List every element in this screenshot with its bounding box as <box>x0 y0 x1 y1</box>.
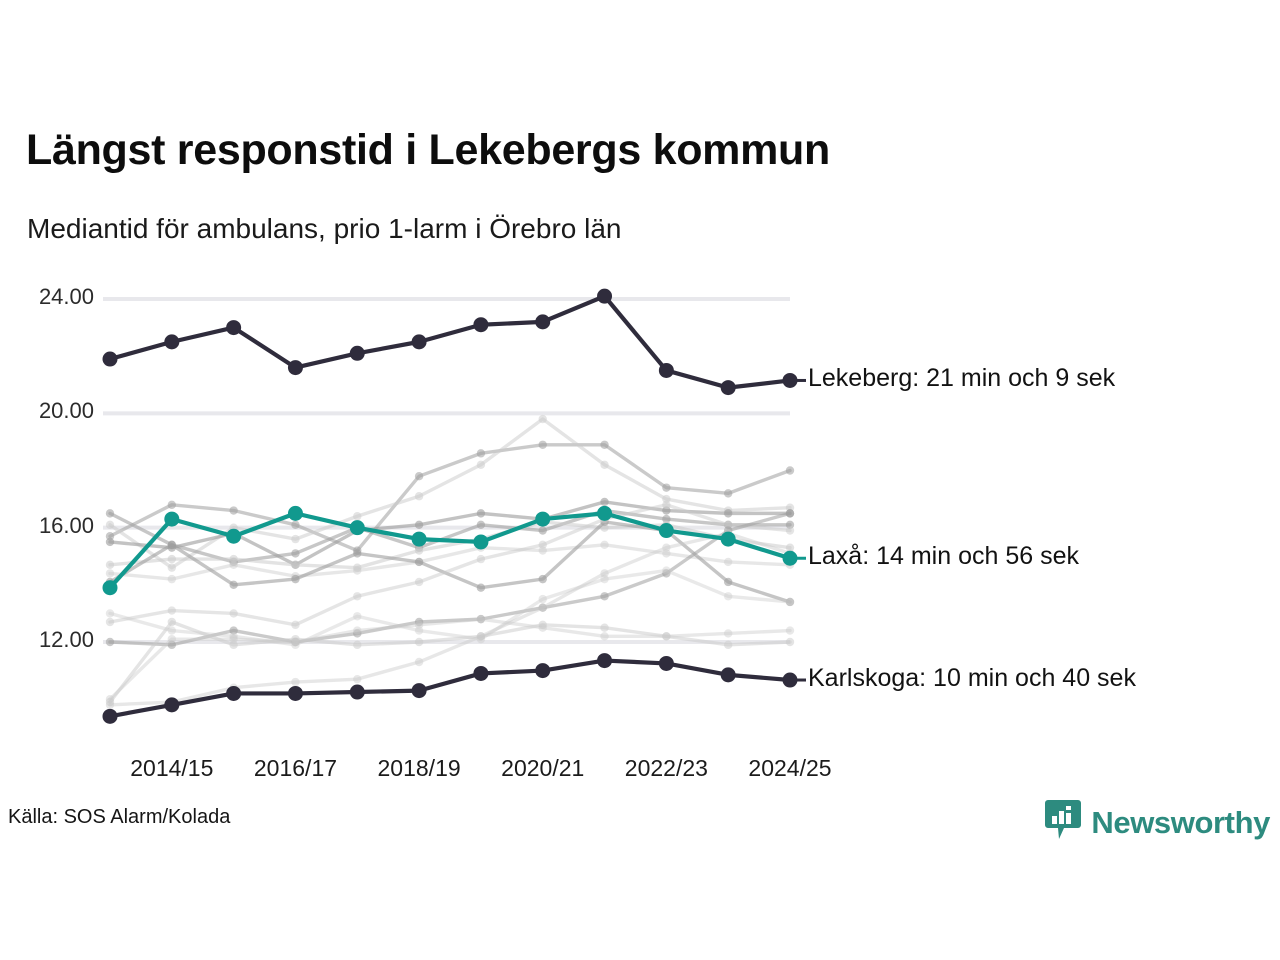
series-point-bg-1 <box>786 466 794 474</box>
series-line-lekeberg <box>110 296 790 387</box>
series-point-bg-10 <box>477 615 485 623</box>
series-point-bg-7 <box>600 518 608 526</box>
series-point-bg-3 <box>539 515 547 523</box>
series-point-bg-9 <box>229 626 237 634</box>
source-note: Källa: SOS Alarm/Kolada <box>8 806 230 829</box>
series-line-bg-12 <box>110 533 790 705</box>
newsworthy-logo: Newsworthy <box>1045 798 1270 847</box>
series-point-bg-10 <box>353 626 361 634</box>
series-point-bg-5 <box>662 521 670 529</box>
series-point-bg-4 <box>539 526 547 534</box>
series-point-bg-1 <box>353 546 361 554</box>
series-point-bg-10 <box>415 621 423 629</box>
series-point-bg-11 <box>724 641 732 649</box>
series-point-bg-11 <box>600 624 608 632</box>
series-point-bg-12 <box>477 632 485 640</box>
series-point-bg-3 <box>229 529 237 537</box>
series-point-bg-9 <box>600 592 608 600</box>
series-point-bg-9 <box>724 526 732 534</box>
series-point-bg-13 <box>600 575 608 583</box>
series-point-bg-4 <box>106 509 114 517</box>
series-point-lekeberg <box>473 317 488 332</box>
series-point-bg-2 <box>724 506 732 514</box>
series-point-bg-5 <box>415 546 423 554</box>
series-point-bg-1 <box>724 489 732 497</box>
series-point-karlskoga <box>103 709 118 724</box>
series-point-bg-9 <box>353 629 361 637</box>
series-line-bg-1 <box>110 445 790 551</box>
series-line-bg-10 <box>110 619 790 699</box>
series-point-lekeberg <box>103 352 118 367</box>
series-point-bg-13 <box>724 592 732 600</box>
series-point-karlskoga <box>350 685 365 700</box>
series-point-bg-2 <box>662 495 670 503</box>
series-point-bg-3 <box>168 543 176 551</box>
series-line-karlskoga <box>110 661 790 717</box>
series-point-bg-8 <box>291 621 299 629</box>
series-point-bg-12 <box>291 678 299 686</box>
series-point-bg-5 <box>353 563 361 571</box>
series-point-bg-3 <box>477 509 485 517</box>
series-point-bg-12 <box>415 658 423 666</box>
series-point-laxå <box>226 529 241 544</box>
series-point-bg-12 <box>106 701 114 709</box>
series-point-bg-13 <box>477 635 485 643</box>
series-point-bg-6 <box>291 572 299 580</box>
series-point-bg-11 <box>168 618 176 626</box>
series-point-bg-5 <box>106 561 114 569</box>
series-point-bg-7 <box>229 581 237 589</box>
series-point-karlskoga <box>412 683 427 698</box>
series-point-bg-6 <box>786 561 794 569</box>
series-point-bg-8 <box>724 521 732 529</box>
series-point-bg-1 <box>168 501 176 509</box>
series-point-bg-12 <box>724 529 732 537</box>
series-point-bg-2 <box>786 503 794 511</box>
series-point-bg-7 <box>106 578 114 586</box>
series-point-bg-6 <box>662 549 670 557</box>
series-point-bg-4 <box>724 521 732 529</box>
series-point-bg-9 <box>291 638 299 646</box>
series-point-bg-8 <box>662 501 670 509</box>
series-point-bg-7 <box>662 526 670 534</box>
series-point-bg-5 <box>168 555 176 563</box>
series-point-bg-6 <box>415 558 423 566</box>
series-point-bg-8 <box>353 592 361 600</box>
series-point-bg-7 <box>353 549 361 557</box>
series-point-bg-3 <box>724 509 732 517</box>
page-subtitle: Mediantid för ambulans, prio 1-larm i Ör… <box>27 213 621 245</box>
series-point-bg-3 <box>353 526 361 534</box>
series-point-bg-4 <box>229 558 237 566</box>
series-point-karlskoga <box>783 673 798 688</box>
series-point-laxå <box>288 506 303 521</box>
series-point-bg-11 <box>291 635 299 643</box>
series-point-laxå <box>350 520 365 535</box>
series-point-lekeberg <box>226 320 241 335</box>
series-point-bg-13 <box>291 641 299 649</box>
series-point-bg-5 <box>786 543 794 551</box>
y-axis-tick-12.00: 12.00 <box>2 627 94 653</box>
series-line-bg-8 <box>110 505 790 625</box>
series-point-bg-10 <box>168 635 176 643</box>
chart-root: Längst responstid i Lekebergs kommun Med… <box>0 0 1280 960</box>
series-point-bg-12 <box>662 543 670 551</box>
series-point-bg-2 <box>353 512 361 520</box>
series-line-bg-6 <box>110 545 790 579</box>
series-point-bg-8 <box>415 578 423 586</box>
series-point-lekeberg <box>535 314 550 329</box>
series-point-lekeberg <box>412 334 427 349</box>
series-point-bg-12 <box>353 675 361 683</box>
series-point-bg-10 <box>291 638 299 646</box>
newsworthy-logo-text: Newsworthy <box>1091 805 1270 841</box>
x-axis-tick-2014-15: 2014/15 <box>130 755 213 782</box>
series-point-bg-1 <box>539 441 547 449</box>
series-point-bg-3 <box>106 538 114 546</box>
series-point-bg-5 <box>724 535 732 543</box>
series-point-bg-2 <box>106 521 114 529</box>
series-point-bg-11 <box>477 632 485 640</box>
series-point-laxå <box>164 512 179 527</box>
series-point-bg-10 <box>229 635 237 643</box>
series-line-bg-7 <box>110 522 790 602</box>
series-point-bg-2 <box>168 563 176 571</box>
series-point-bg-3 <box>600 498 608 506</box>
series-point-bg-5 <box>539 518 547 526</box>
series-point-bg-6 <box>168 575 176 583</box>
series-point-bg-10 <box>786 626 794 634</box>
series-point-bg-6 <box>724 558 732 566</box>
series-line-bg-9 <box>110 513 790 644</box>
series-point-bg-7 <box>539 575 547 583</box>
series-point-bg-8 <box>600 515 608 523</box>
series-point-bg-8 <box>229 609 237 617</box>
series-point-bg-9 <box>415 618 423 626</box>
series-point-bg-13 <box>662 566 670 574</box>
series-point-bg-2 <box>477 461 485 469</box>
series-point-bg-8 <box>168 606 176 614</box>
series-point-bg-6 <box>229 561 237 569</box>
series-point-bg-2 <box>291 535 299 543</box>
series-label-karlskoga: Karlskoga: 10 min och 40 sek <box>808 664 1136 693</box>
series-point-bg-9 <box>786 509 794 517</box>
series-point-bg-11 <box>106 698 114 706</box>
y-axis-tick-20.00: 20.00 <box>2 398 94 424</box>
series-point-bg-5 <box>291 561 299 569</box>
series-point-bg-11 <box>786 638 794 646</box>
series-point-bg-1 <box>415 472 423 480</box>
series-point-laxå <box>659 523 674 538</box>
series-point-bg-1 <box>291 521 299 529</box>
series-point-bg-4 <box>786 521 794 529</box>
x-axis-tick-2024-25: 2024/25 <box>748 755 831 782</box>
series-point-bg-9 <box>106 638 114 646</box>
series-point-bg-9 <box>168 641 176 649</box>
series-line-laxå <box>110 513 790 587</box>
x-axis-tick-2018-19: 2018/19 <box>378 755 461 782</box>
series-point-bg-3 <box>786 509 794 517</box>
series-point-bg-9 <box>662 569 670 577</box>
series-point-bg-1 <box>229 506 237 514</box>
series-label-laxå: Laxå: 14 min och 56 sek <box>808 542 1079 571</box>
series-point-bg-2 <box>229 523 237 531</box>
series-point-bg-13 <box>168 626 176 634</box>
series-point-bg-4 <box>600 506 608 514</box>
series-point-bg-13 <box>415 626 423 634</box>
x-axis-tick-2022-23: 2022/23 <box>625 755 708 782</box>
series-point-laxå <box>721 532 736 547</box>
series-point-bg-7 <box>477 583 485 591</box>
series-point-bg-3 <box>662 506 670 514</box>
series-point-bg-13 <box>229 632 237 640</box>
series-point-bg-13 <box>106 609 114 617</box>
series-point-bg-12 <box>229 684 237 692</box>
series-point-bg-13 <box>539 595 547 603</box>
series-point-lekeberg <box>164 334 179 349</box>
series-point-bg-6 <box>477 543 485 551</box>
series-point-lekeberg <box>288 360 303 375</box>
series-point-bg-7 <box>724 578 732 586</box>
series-point-bg-10 <box>539 624 547 632</box>
newsworthy-bubble-chart-icon <box>1045 798 1081 847</box>
series-line-bg-13 <box>110 571 790 645</box>
series-point-bg-3 <box>291 561 299 569</box>
series-point-laxå <box>535 512 550 527</box>
series-point-bg-1 <box>662 483 670 491</box>
series-point-bg-12 <box>600 569 608 577</box>
series-point-karlskoga <box>535 663 550 678</box>
series-point-bg-4 <box>662 515 670 523</box>
x-axis-tick-2020-21: 2020/21 <box>501 755 584 782</box>
series-point-karlskoga <box>597 653 612 668</box>
series-point-bg-13 <box>353 612 361 620</box>
series-point-bg-11 <box>229 641 237 649</box>
series-point-bg-13 <box>786 598 794 606</box>
series-point-bg-4 <box>415 543 423 551</box>
series-point-laxå <box>103 580 118 595</box>
x-axis-tick-2016-17: 2016/17 <box>254 755 337 782</box>
series-point-bg-7 <box>168 541 176 549</box>
series-point-bg-10 <box>600 632 608 640</box>
y-axis-tick-24.00: 24.00 <box>2 284 94 310</box>
series-point-bg-10 <box>724 629 732 637</box>
series-point-bg-12 <box>168 698 176 706</box>
series-point-bg-11 <box>415 638 423 646</box>
series-point-bg-4 <box>477 521 485 529</box>
series-point-bg-5 <box>477 535 485 543</box>
series-point-lekeberg <box>783 373 798 388</box>
series-point-lekeberg <box>659 363 674 378</box>
series-point-lekeberg <box>597 289 612 304</box>
series-point-bg-11 <box>539 621 547 629</box>
series-point-karlskoga <box>288 686 303 701</box>
series-point-bg-12 <box>786 549 794 557</box>
series-point-bg-6 <box>600 541 608 549</box>
series-point-bg-4 <box>291 549 299 557</box>
series-point-karlskoga <box>721 667 736 682</box>
series-point-karlskoga <box>473 666 488 681</box>
series-point-bg-11 <box>353 641 361 649</box>
series-point-bg-6 <box>353 566 361 574</box>
series-point-karlskoga <box>164 697 179 712</box>
series-line-bg-4 <box>110 511 790 562</box>
series-point-bg-9 <box>539 604 547 612</box>
series-point-bg-8 <box>786 526 794 534</box>
y-axis-tick-16.00: 16.00 <box>2 513 94 539</box>
series-point-bg-7 <box>786 598 794 606</box>
series-point-bg-10 <box>106 695 114 703</box>
series-point-bg-4 <box>168 541 176 549</box>
series-point-bg-1 <box>106 532 114 540</box>
series-point-bg-7 <box>291 575 299 583</box>
series-point-bg-5 <box>229 555 237 563</box>
series-point-laxå <box>412 532 427 547</box>
series-line-bg-5 <box>110 522 790 568</box>
series-line-bg-3 <box>110 502 790 565</box>
series-point-laxå <box>597 506 612 521</box>
series-point-bg-2 <box>539 415 547 423</box>
series-point-bg-11 <box>662 632 670 640</box>
series-point-bg-8 <box>477 555 485 563</box>
series-point-laxå <box>783 551 798 566</box>
series-point-bg-3 <box>415 521 423 529</box>
series-point-bg-9 <box>477 615 485 623</box>
series-point-bg-6 <box>106 569 114 577</box>
series-point-bg-6 <box>539 546 547 554</box>
series-point-karlskoga <box>659 656 674 671</box>
series-point-bg-12 <box>539 604 547 612</box>
series-point-bg-1 <box>477 449 485 457</box>
series-point-lekeberg <box>721 380 736 395</box>
series-point-bg-5 <box>600 523 608 531</box>
series-point-karlskoga <box>226 686 241 701</box>
series-point-laxå <box>473 534 488 549</box>
series-point-bg-4 <box>353 523 361 531</box>
series-point-bg-8 <box>539 541 547 549</box>
series-point-bg-2 <box>600 461 608 469</box>
page-title: Längst responstid i Lekebergs kommun <box>26 126 830 175</box>
series-point-bg-1 <box>600 441 608 449</box>
series-point-bg-10 <box>662 632 670 640</box>
series-point-bg-7 <box>415 558 423 566</box>
series-line-bg-11 <box>110 622 790 702</box>
series-point-bg-2 <box>415 492 423 500</box>
series-point-lekeberg <box>350 346 365 361</box>
series-label-lekeberg: Lekeberg: 21 min och 9 sek <box>808 364 1115 393</box>
series-line-bg-2 <box>110 419 790 568</box>
series-point-bg-8 <box>106 618 114 626</box>
